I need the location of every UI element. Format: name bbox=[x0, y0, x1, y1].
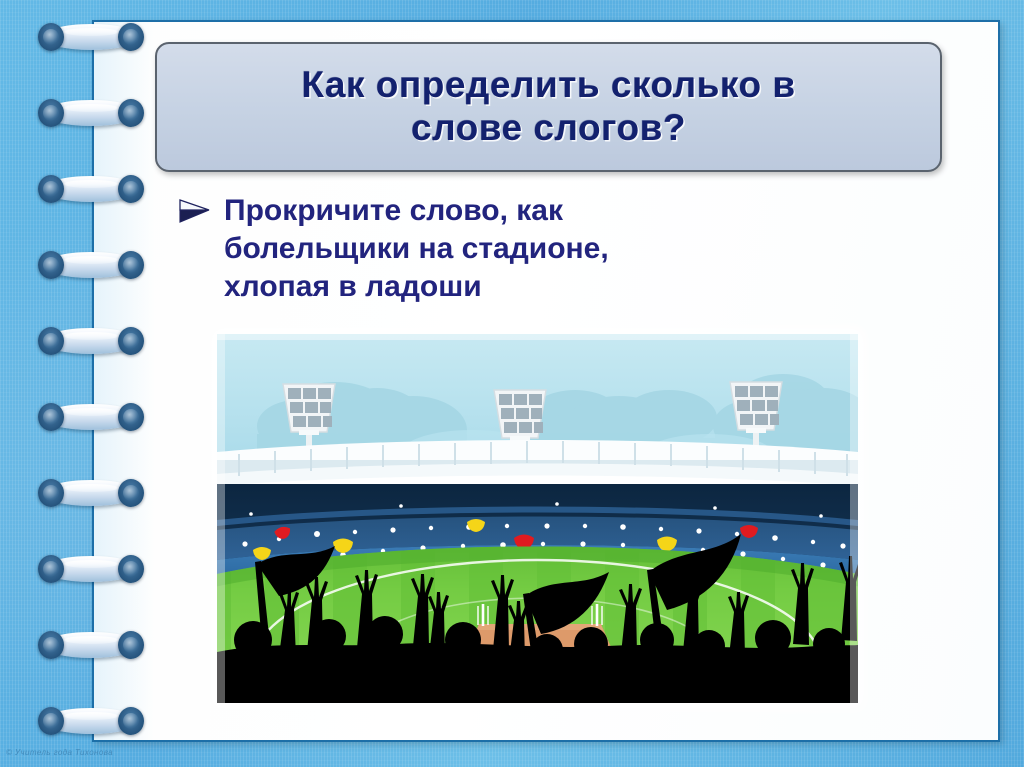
spiral-ring-icon bbox=[42, 100, 140, 126]
spiral-ring-icon bbox=[42, 328, 140, 354]
arrow-bullet-icon bbox=[178, 192, 218, 229]
spiral-ring-icon bbox=[42, 708, 140, 734]
spiral-ring-icon bbox=[42, 24, 140, 50]
spiral-ring-icon bbox=[42, 632, 140, 658]
watermark-text: © Учитель года Тихонова bbox=[6, 748, 113, 757]
page-title: Как определить сколько в слове слогов? bbox=[283, 64, 813, 150]
spiral-ring-icon bbox=[42, 480, 140, 506]
spiral-ring-icon bbox=[42, 252, 140, 278]
cricket-stadium-crowd-image bbox=[217, 334, 858, 703]
spiral-ring-icon bbox=[42, 556, 140, 582]
bullet-item: Прокричите слово, как болельщики на стад… bbox=[178, 192, 818, 305]
spiral-ring-icon bbox=[42, 176, 140, 202]
spiral-ring-icon bbox=[42, 404, 140, 430]
stadium-illustration-svg bbox=[217, 334, 858, 703]
bullet-item-label: Прокричите слово, как болельщики на стад… bbox=[218, 192, 609, 305]
slide-title-box: Как определить сколько в слове слогов? bbox=[155, 42, 942, 172]
